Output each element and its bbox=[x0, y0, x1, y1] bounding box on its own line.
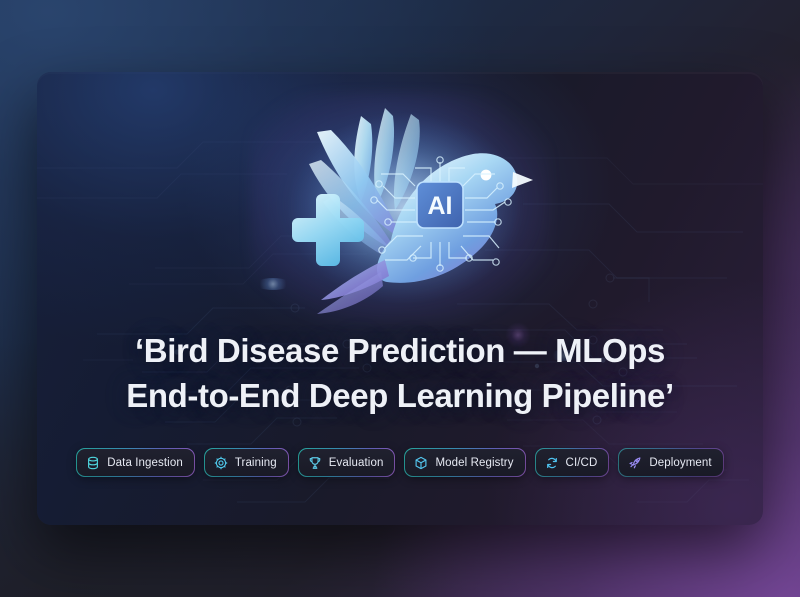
badge-label: Evaluation bbox=[329, 457, 384, 469]
badge-ci-cd[interactable]: CI/CD bbox=[536, 449, 609, 476]
badge-label: Model Registry bbox=[435, 457, 513, 469]
badge-label: Data Ingestion bbox=[107, 457, 183, 469]
title-line-1: ‘Bird Disease Prediction — MLOps bbox=[37, 328, 763, 373]
trophy-icon bbox=[308, 456, 322, 470]
rocket-icon bbox=[628, 456, 642, 470]
hero-card: AI ‘Bird Disease Prediction — MLOps End-… bbox=[37, 72, 763, 525]
database-icon bbox=[86, 456, 100, 470]
refresh-icon bbox=[545, 456, 559, 470]
badge-training[interactable]: Training bbox=[205, 449, 288, 476]
badge-evaluation[interactable]: Evaluation bbox=[299, 449, 395, 476]
badge-label: Training bbox=[235, 457, 277, 469]
gear-icon bbox=[214, 456, 228, 470]
badge-label: Deployment bbox=[649, 457, 711, 469]
badge-data-ingestion[interactable]: Data Ingestion bbox=[77, 449, 194, 476]
page-title: ‘Bird Disease Prediction — MLOps End-to-… bbox=[37, 328, 763, 418]
badge-deployment[interactable]: Deployment bbox=[619, 449, 722, 476]
badge-label: CI/CD bbox=[566, 457, 598, 469]
ai-chip-label: AI bbox=[428, 192, 453, 220]
title-line-2: End-to-End Deep Learning Pipeline’ bbox=[37, 373, 763, 418]
hero-image-area: AI bbox=[37, 90, 763, 316]
bird-ai-logo: AI bbox=[265, 90, 535, 316]
pipeline-stage-badges: Data Ingestion Training E bbox=[37, 449, 763, 476]
cube-icon bbox=[414, 456, 428, 470]
badge-model-registry[interactable]: Model Registry bbox=[405, 449, 524, 476]
